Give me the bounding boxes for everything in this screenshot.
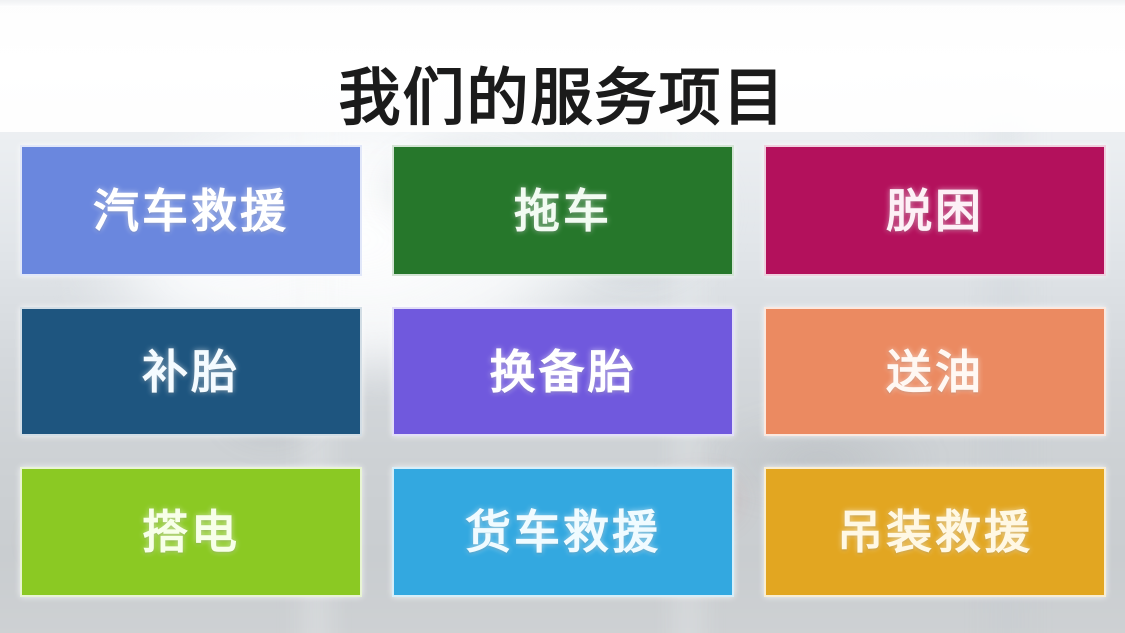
service-tile-label: 拖车 [514, 188, 612, 234]
service-tile-label: 脱困 [886, 188, 984, 234]
service-tile-label: 货车救援 [465, 509, 661, 555]
service-tile-spare-tire-change[interactable]: 换备胎 [392, 307, 734, 436]
service-tile-tow-truck[interactable]: 拖车 [392, 145, 734, 276]
service-tile-label: 送油 [886, 349, 984, 395]
service-tile-label: 汽车救援 [93, 188, 289, 234]
top-edge-hairline [0, 0, 1125, 7]
service-tile-tire-repair[interactable]: 补胎 [20, 307, 362, 436]
service-poster: 我们的服务项目 汽车救援 拖车 脱困 补胎 换备胎 送油 搭电 货车救援 吊装救… [0, 0, 1125, 633]
service-grid: 汽车救援 拖车 脱困 补胎 换备胎 送油 搭电 货车救援 吊装救援 [20, 145, 1105, 598]
service-tile-car-rescue[interactable]: 汽车救援 [20, 145, 362, 276]
service-tile-label: 吊装救援 [837, 509, 1033, 555]
service-tile-fuel-delivery[interactable]: 送油 [764, 307, 1106, 436]
service-tile-jump-start[interactable]: 搭电 [20, 467, 362, 597]
service-tile-label: 换备胎 [490, 349, 637, 395]
service-tile-label: 搭电 [142, 509, 240, 555]
service-tile-extrication[interactable]: 脱困 [764, 145, 1106, 276]
service-tile-label: 补胎 [142, 349, 240, 395]
service-tile-truck-rescue[interactable]: 货车救援 [392, 467, 734, 597]
service-tile-crane-rescue[interactable]: 吊装救援 [764, 467, 1106, 597]
page-title: 我们的服务项目 [338, 66, 786, 131]
